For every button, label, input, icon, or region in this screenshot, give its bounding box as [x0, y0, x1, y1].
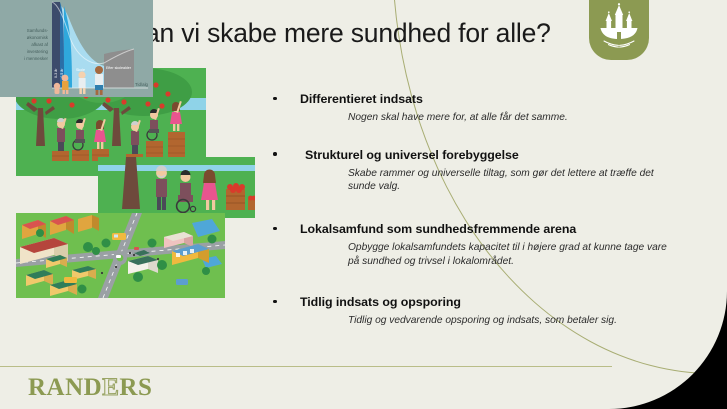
svg-text:Efter skolealder: Efter skolealder	[106, 66, 132, 70]
image-local-community	[16, 213, 225, 298]
bullet-heading-text-0: Differentieret indsats	[300, 92, 423, 106]
wordmark-part-1: RAND	[28, 374, 102, 401]
bullet-sub-1: Skabe rammer og universelle tiltag, som …	[270, 167, 668, 194]
bullet-block-3: Tidlig indsats og opsporing Tidlig og ve…	[270, 295, 668, 328]
bullet-block-0: Differentieret indsats Nogen skal have m…	[270, 92, 668, 125]
randers-coat-of-arms-icon	[589, 0, 649, 60]
footer-divider	[0, 366, 612, 367]
bullet-dot-icon	[273, 227, 277, 231]
bullet-heading-1: Strukturel og universel forebyggelse	[270, 148, 668, 162]
svg-text:i mennesker: i mennesker	[24, 56, 48, 61]
bullet-heading-3: Tidlig indsats og opsporing	[270, 295, 668, 309]
svg-text:Samfunds-: Samfunds-	[27, 28, 49, 33]
svg-text:afkast af: afkast af	[31, 42, 48, 47]
image-equity-reached	[98, 157, 255, 218]
bullet-sub-0: Nogen skal have mere for, at alle får de…	[270, 111, 668, 125]
svg-text:0-3 år: 0-3 år	[54, 68, 58, 78]
presentation-slide: Hvordan kan vi skabe mere sundhed for al…	[0, 0, 727, 409]
image-heckman-curve-chart: Samfunds- økonomisk afkast af investerin…	[0, 0, 153, 102]
wordmark-part-2: E	[102, 374, 119, 401]
bullet-dot-icon	[273, 152, 277, 156]
randers-wordmark: RANDERS	[28, 375, 152, 400]
bullet-sub-3: Tidlig og vedvarende opsporing og indsat…	[270, 314, 668, 328]
svg-text:Skole: Skole	[76, 68, 85, 72]
bullet-heading-text-3: Tidlig indsats og opsporing	[300, 295, 461, 309]
bullet-list: Differentieret indsats Nogen skal have m…	[270, 92, 668, 328]
bullet-block-1: Strukturel og universel forebyggelse Ska…	[270, 148, 668, 194]
bullet-block-2: Lokalsamfund som sundhedsfremmende arena…	[270, 222, 668, 268]
svg-text:Tid/alg: Tid/alg	[135, 82, 149, 87]
bullet-dot-icon	[273, 97, 277, 101]
bullet-dot-icon	[273, 300, 277, 304]
bullet-heading-2: Lokalsamfund som sundhedsfremmende arena	[270, 222, 668, 236]
bullet-heading-0: Differentieret indsats	[270, 92, 668, 106]
bullet-heading-text-2: Lokalsamfund som sundhedsfremmende arena	[300, 222, 576, 236]
svg-text:økonomisk: økonomisk	[27, 35, 49, 40]
bullet-heading-text-1: Strukturel og universel forebyggelse	[305, 148, 519, 162]
bullet-sub-2: Opbygge lokalsamfundets kapacitet til i …	[270, 241, 668, 268]
svg-text:investering: investering	[27, 49, 49, 54]
wordmark-part-3: RS	[119, 374, 152, 401]
